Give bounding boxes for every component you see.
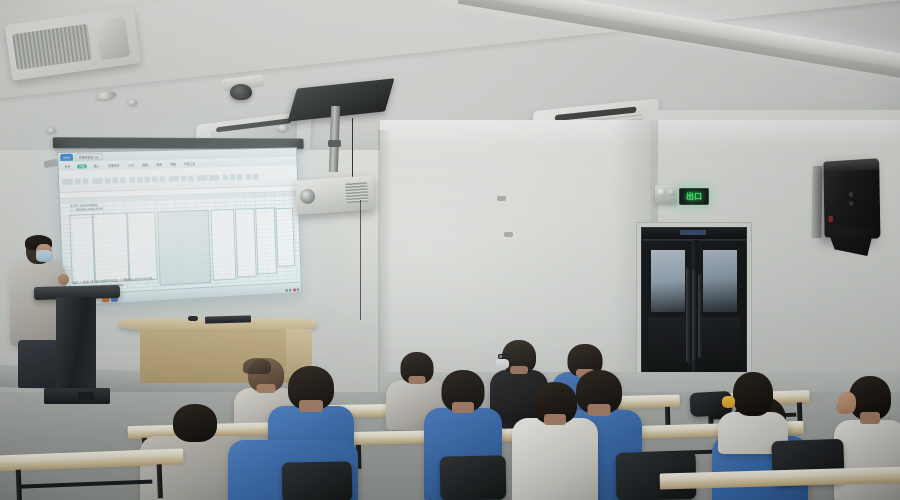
app-tab-home[interactable]: WPS [60,154,73,161]
toolbar-group-editing[interactable] [246,173,259,179]
toolbar-group-cells[interactable] [223,174,243,180]
ribbon-tab-1[interactable]: 开始 [77,164,87,168]
toolbar-group-number[interactable] [169,175,194,181]
projection-screen: WPS 管理考核表.xlsx 文件 开始 插入 页面布局 公式 数据 审阅 视图… [57,147,302,307]
app-tab-document[interactable]: 管理考核表.xlsx [75,153,103,161]
speaker-wall-arm [811,166,822,238]
ribbon-tab-3[interactable]: 页面布局 [106,163,121,167]
wall-fitting-icon [497,196,506,201]
presenter-hand [58,274,69,285]
ceiling-sensor-small-icon [128,100,137,105]
grid-row-text: ▫▫▫▫ ▫▫▫ ▫▫▫▫▫ ▫▫▫ ▫▫ ▫▫▫▫ [71,216,97,220]
toolbar-group-align[interactable] [129,176,165,183]
audience-person-9 [512,382,598,500]
audience-desk-front-left [0,448,185,500]
ribbon-tab-7[interactable]: 视图 [168,162,177,166]
training-room-photo: WPS 管理考核表.xlsx 文件 开始 插入 页面布局 公式 数据 审阅 视图… [0,0,900,500]
person-10-mask-yellow [722,396,735,408]
door-transom [641,227,747,240]
ribbon-tab-4[interactable]: 公式 [126,163,136,167]
lectern [34,286,120,404]
person-5-mask [496,359,509,369]
exit-sign: 出口 [679,188,709,205]
person-1-hair [243,358,271,374]
toolbar-group-font[interactable] [92,177,126,184]
laptop-icon [205,315,251,323]
exit-sign-label: 出口 [686,193,702,201]
projector-cable-2 [352,118,370,180]
ribbon-tab-2[interactable]: 插入 [92,164,102,168]
door-handle-icon[interactable] [686,268,702,364]
system-tray[interactable] [285,288,299,292]
ribbon-tab-0[interactable]: 文件 [62,164,72,168]
ceiling-sprinkler-icon [47,128,56,133]
spreadsheet-grid[interactable]: 安全生产责任制考核细则 一、考核范围与考核标准说明 ▫▫▫▫ ▫▫▫ ▫▫▫▫▫… [60,196,301,292]
mouse-icon [188,316,198,321]
audience-person-10 [718,372,788,452]
floor-power-box [78,392,94,400]
emergency-light-icon [655,185,677,204]
ribbon-tab-5[interactable]: 数据 [140,162,150,166]
projection-surface: WPS 管理考核表.xlsx 文件 开始 插入 页面布局 公式 数据 审阅 视图… [57,147,302,307]
audience-chair-front-4 [440,455,507,500]
toolbar-group-clipboard[interactable] [62,178,89,185]
person-11-hand [836,400,850,414]
ceiling-sprinkler-2-icon [278,125,288,131]
wall-fitting-2-icon [504,232,513,237]
ribbon-tab-6[interactable]: 审阅 [154,162,163,166]
audience-chair-front-1 [282,461,353,500]
floor-cable [360,200,374,320]
toolbar-group-styles[interactable] [197,174,219,180]
ceiling-camera-icon [230,84,252,100]
ribbon-tab-8[interactable]: 开发工具 [182,161,197,165]
audience-desk-front-right [660,467,900,500]
presenter-face-mask [36,250,53,262]
